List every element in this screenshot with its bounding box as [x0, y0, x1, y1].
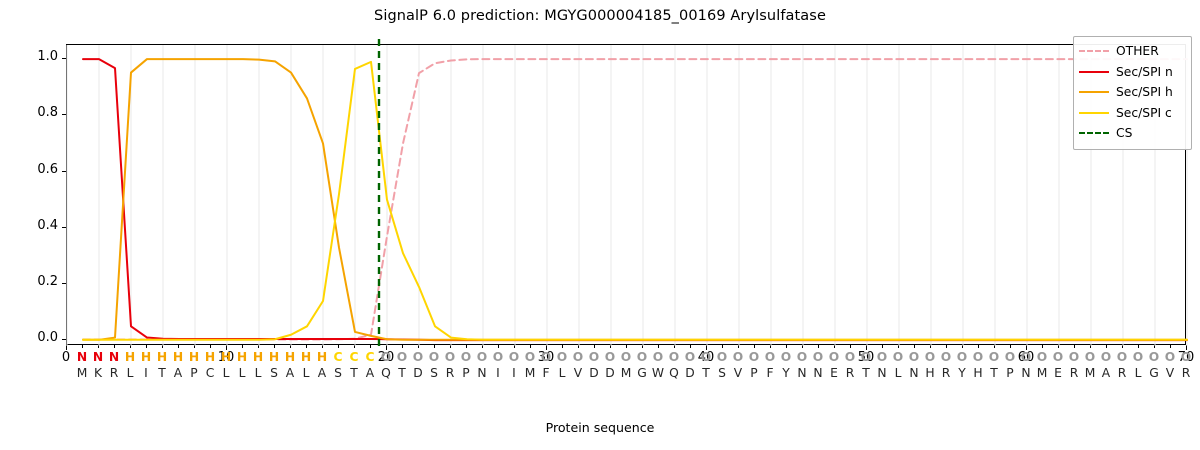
y-tick-label: 1.0	[0, 49, 58, 64]
legend-item-sec-spi-h[interactable]: Sec/SPI h	[1079, 82, 1186, 103]
residue-label: R	[1173, 366, 1199, 380]
region-label: O	[1173, 350, 1199, 364]
y-tick-label: 0.4	[0, 218, 58, 233]
y-tick-label: 0.2	[0, 274, 58, 289]
legend-label-sec-spi-c: Sec/SPI c	[1116, 106, 1172, 120]
series-line-other	[83, 59, 1187, 339]
legend-label-sec-spi-n: Sec/SPI n	[1116, 65, 1173, 79]
series-canvas	[67, 45, 1187, 346]
y-tick-label: 0.8	[0, 105, 58, 120]
legend-item-sec-spi-c[interactable]: Sec/SPI c	[1079, 103, 1186, 124]
legend-item-sec-spi-n[interactable]: Sec/SPI n	[1079, 62, 1186, 83]
legend-label-cs: CS	[1116, 126, 1132, 140]
signalp-prediction-figure: SignalP 6.0 prediction: MGYG000004185_00…	[0, 0, 1200, 450]
legend-label-other: OTHER	[1116, 44, 1159, 58]
legend-item-cs[interactable]: CS	[1079, 123, 1186, 144]
y-tick-label: 0.0	[0, 330, 58, 345]
legend-label-sec-spi-h: Sec/SPI h	[1116, 85, 1173, 99]
x-axis-label: Protein sequence	[0, 420, 1200, 435]
series-line-sec-spi-n	[83, 59, 1187, 340]
series-line-sec-spi-h	[83, 59, 1187, 340]
legend: OTHER Sec/SPI n Sec/SPI h Sec/SPI c CS	[1073, 36, 1192, 150]
series-line-sec-spi-c	[83, 62, 1187, 340]
y-tick-label: 0.6	[0, 162, 58, 177]
plot-area	[66, 44, 1186, 345]
legend-item-other[interactable]: OTHER	[1079, 41, 1186, 62]
chart-title: SignalP 6.0 prediction: MGYG000004185_00…	[0, 8, 1200, 24]
